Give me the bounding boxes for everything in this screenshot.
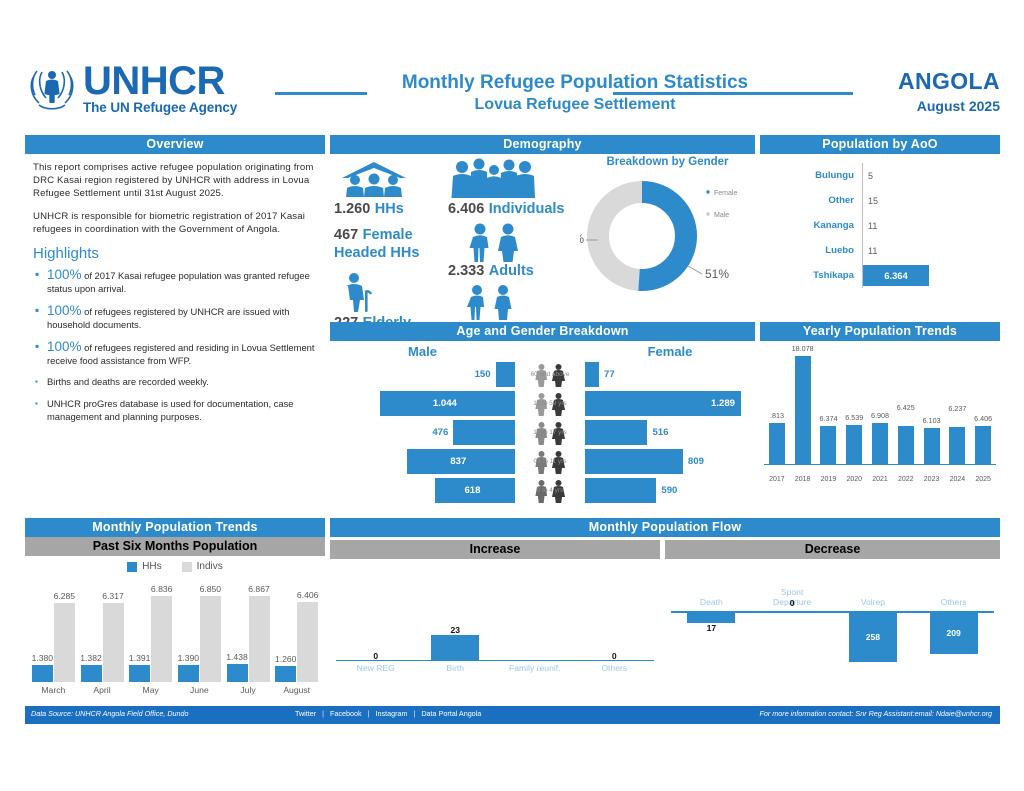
legend-label-male: Male	[714, 212, 729, 219]
monthly-indivs-bar: 6.317	[103, 603, 124, 682]
male-bar	[496, 362, 515, 387]
yearly-bar	[975, 426, 991, 464]
male-bar-cell: 476	[330, 419, 515, 446]
yearly-bar	[846, 425, 862, 464]
legend-hhs-label: HHs	[142, 561, 161, 572]
footer-link-facebook[interactable]: Facebook	[330, 709, 362, 718]
highlight-percent: 100%	[47, 303, 82, 318]
monthly-hhs-bar: 1.260	[275, 666, 296, 682]
age-gender-rows: 15060 and above771.04418 to 59 yrs1.2894…	[330, 361, 755, 504]
highlight-item: ▪Births and deaths are recorded weekly.	[33, 375, 317, 388]
stat-individuals: 6.406 Individuals	[448, 158, 578, 218]
aoo-row-value: 5	[863, 171, 873, 181]
monthly-indivs-bar: 6.836	[151, 596, 172, 682]
highlight-item: ▪UNHCR proGres database is used for docu…	[33, 397, 317, 424]
yearly-bar-column: 6.539	[841, 425, 867, 464]
increase-heading: Increase	[330, 540, 660, 559]
decrease-category: Death	[700, 597, 723, 607]
yearly-x-label: 2025	[970, 476, 996, 483]
legend-swatch-indivs	[182, 562, 192, 572]
yearly-bar	[769, 423, 785, 464]
aoo-row-name: Other	[760, 195, 862, 206]
decrease-column: 0	[752, 612, 833, 662]
decrease-category: Others	[941, 597, 967, 607]
female-value: 77	[599, 369, 615, 380]
decrease-value: 0	[790, 598, 795, 608]
highlight-text: 100% of 2017 Kasai refugee population wa…	[47, 268, 317, 296]
increase-bar	[431, 635, 479, 661]
page-footer: Data Source: UNHCR Angola Field Office, …	[25, 706, 1000, 724]
highlight-item: ▪100% of refugees registered by UNHCR ar…	[33, 304, 317, 332]
yearly-axis-line	[764, 464, 996, 465]
page-subtitle: Lovua Refugee Settlement	[365, 96, 785, 114]
aoo-row-value-cell: 6.364	[862, 263, 1000, 288]
decrease-value: 209	[946, 628, 960, 638]
aoo-row-name: Kananga	[760, 220, 862, 231]
stat-individuals-number: 6.406	[448, 201, 484, 217]
yearly-bar	[949, 427, 965, 464]
group-icon	[448, 158, 540, 200]
bullet-icon: ▪	[35, 397, 47, 424]
aoo-row-value: 15	[863, 196, 878, 206]
monthly-hhs-bar: 1.390	[178, 665, 199, 682]
monthly-legend: HHs Indivs	[29, 558, 321, 574]
monthly-x-label: March	[29, 685, 78, 695]
unhcr-logo: UNHCR The UN Refugee Agency	[25, 60, 257, 122]
yearly-bar	[795, 356, 811, 464]
demography-heading: Demography	[330, 135, 755, 154]
increase-label-cell: Family reunif.	[495, 663, 575, 673]
monthly-hhs-value: 1.390	[178, 653, 200, 663]
donut-male-pct: 49%	[580, 232, 584, 246]
female-bar	[585, 478, 656, 503]
infographic-page: UNHCR The UN Refugee Agency Monthly Refu…	[0, 0, 1024, 791]
age-gender-column-headers: Male Female	[330, 341, 755, 361]
age-group-label: 60 and above	[531, 371, 570, 378]
decrease-bar	[687, 612, 735, 623]
increase-category: Family reunif.	[509, 663, 561, 673]
highlight-text: UNHCR proGres database is used for docum…	[47, 397, 317, 424]
aoo-row-value: 11	[863, 221, 877, 231]
aoo-row: Tshikapa6.364	[760, 263, 1000, 288]
yearly-bar	[820, 426, 836, 464]
female-bar-cell: 1.289	[585, 390, 755, 417]
aoo-row-name: Luebo	[760, 245, 862, 256]
aoo-row-value-cell: 11	[862, 238, 1000, 263]
increase-label-cell: New REG	[336, 663, 416, 673]
female-value: 1.289	[711, 398, 735, 409]
decrease-label-cell: Death	[671, 573, 752, 607]
increase-value: 0	[612, 651, 617, 661]
aoo-row-value-cell: 11	[862, 213, 1000, 238]
yearly-bar-value: 6.539	[845, 413, 863, 422]
footer-link-twitter[interactable]: Twitter	[295, 709, 316, 718]
female-column-header: Female	[585, 344, 755, 359]
flow-heading-bar: Monthly Population Flow	[330, 518, 1000, 537]
age-gender-row: 1.04418 to 59 yrs1.289	[330, 390, 755, 417]
decrease-label-cell: Volrep	[833, 573, 914, 607]
monthly-bar-group: 1.3806.285	[29, 574, 78, 682]
male-bar-cell: 1.044	[330, 390, 515, 417]
legend-swatch-hhs	[127, 562, 137, 572]
monthly-indivs-value: 6.867	[248, 584, 270, 594]
monthly-hhs-value: 1.260	[275, 654, 297, 664]
aoo-row-value-cell: 15	[862, 188, 1000, 213]
overview-panel: Overview This report comprises active re…	[25, 135, 325, 513]
age-group-cell: 0 to 4 yrs	[515, 477, 585, 504]
bullet-icon: ▪	[35, 340, 47, 368]
footer-link-instagram[interactable]: Instagram	[376, 709, 408, 718]
yearly-x-label: 2023	[919, 476, 945, 483]
unhcr-wordmark: UNHCR The UN Refugee Agency	[83, 60, 237, 115]
increase-column: 0	[575, 621, 655, 661]
monthly-hhs-bar: 1.391	[129, 665, 150, 682]
elderly-icon	[334, 270, 388, 314]
stat-female-headed-number: 467	[334, 227, 358, 243]
page-header: UNHCR The UN Refugee Agency Monthly Refu…	[25, 58, 1000, 130]
age-gender-panel: Age and Gender Breakdown Male Female 150…	[330, 322, 755, 513]
footer-divider: |	[413, 709, 415, 718]
monthly-indivs-value: 6.285	[54, 591, 76, 601]
increase-label-cell: Others	[575, 663, 655, 673]
age-gender-row: 83705 to 11 yrs809	[330, 448, 755, 475]
male-bar: 618	[435, 478, 515, 503]
yearly-bar	[924, 428, 940, 464]
decrease-value: 258	[866, 632, 880, 642]
legend-dot-female	[706, 190, 709, 193]
stat-adults-label: Adults	[489, 263, 534, 279]
age-group-label: 0 to 4 yrs	[537, 487, 563, 494]
highlight-percent: 100%	[47, 339, 82, 354]
yearly-bar-column: 6.425	[893, 426, 919, 464]
decrease-category: Volrep	[861, 597, 885, 607]
decrease-panel: Decrease DeathSpontDepartureVolrepOthers…	[665, 540, 1000, 703]
female-value: 590	[656, 485, 677, 496]
highlight-item: ▪100% of refugees registered and residin…	[33, 340, 317, 368]
aoo-row-name: Tshikapa	[760, 270, 862, 281]
female-bar-cell: 590	[585, 477, 755, 504]
stat-adults: 2.333 Adults	[448, 222, 578, 280]
age-group-cell: 12 to 17 yrs	[515, 419, 585, 446]
highlight-text: 100% of refugees registered by UNHCR are…	[47, 304, 317, 332]
unhcr-emblem-icon	[25, 60, 79, 114]
monthly-x-axis: MarchAprilMayJuneJulyAugust	[29, 682, 321, 695]
age-gender-heading: Age and Gender Breakdown	[330, 322, 755, 341]
monthly-hhs-bar: 1.438	[227, 664, 248, 682]
yearly-bar-value: .813	[770, 411, 784, 420]
overview-paragraph-2: UNHCR is responsible for biometric regis…	[33, 210, 317, 236]
yearly-heading: Yearly Population Trends	[760, 322, 1000, 341]
increase-column: 23	[416, 621, 496, 661]
stat-households-label: HHs	[375, 201, 404, 217]
yearly-bar-column: 6.237	[944, 427, 970, 464]
increase-category: New REG	[357, 663, 395, 673]
donut-female-pct: 51%	[705, 267, 729, 281]
monthly-indivs-value: 6.850	[200, 584, 222, 594]
increase-column: 0	[336, 621, 416, 661]
legend-dot-male	[706, 212, 709, 215]
footer-social-links: Twitter|Facebook|Instagram|Data Portal A…	[295, 709, 481, 718]
monthly-indivs-bar: 6.850	[200, 596, 221, 682]
monthly-trends-panel: Monthly Population Trends Past Six Month…	[25, 518, 325, 703]
decrease-bar: 209	[930, 612, 978, 654]
footer-divider: |	[368, 709, 370, 718]
decrease-heading: Decrease	[665, 540, 1000, 559]
yearly-bar-column: .813	[764, 423, 790, 464]
monthly-indivs-value: 6.317	[102, 591, 124, 601]
footer-contact: For more information contact: Snr Reg As…	[760, 709, 992, 718]
footer-divider: |	[322, 709, 324, 718]
yearly-x-label: 2024	[944, 476, 970, 483]
increase-panel: Increase 0230 New REGBirthFamily reunif.…	[330, 540, 660, 703]
highlights-heading: Highlights	[33, 245, 317, 262]
age-group-label: 05 to 11 yrs	[534, 458, 567, 465]
yearly-x-label: 2019	[816, 476, 842, 483]
highlight-text: Births and deaths are recorded weekly.	[47, 375, 209, 388]
yearly-bar-value: 6.374	[819, 414, 837, 423]
overview-paragraph-1: This report comprises active refugee pop…	[33, 161, 317, 201]
female-value: 516	[647, 427, 668, 438]
bullet-icon: ▪	[35, 304, 47, 332]
aoo-heading: Population by AoO	[760, 135, 1000, 154]
donut-title: Breakdown by Gender	[580, 156, 755, 168]
monthly-heading: Monthly Population Trends	[25, 518, 325, 537]
decrease-value: 17	[707, 623, 717, 633]
female-bar	[585, 420, 647, 445]
yearly-bar-value: 6.237	[948, 404, 966, 413]
yearly-x-label: 2018	[790, 476, 816, 483]
monthly-indivs-bar: 6.285	[54, 603, 75, 682]
female-bar-cell: 809	[585, 448, 755, 475]
male-value: 837	[450, 456, 471, 467]
aoo-row: Kananga11	[760, 213, 1000, 238]
yearly-x-label: 2021	[867, 476, 893, 483]
male-bar-cell: 837	[330, 448, 515, 475]
monthly-x-label: August	[272, 685, 321, 695]
aoo-row-value-cell: 5	[862, 163, 1000, 188]
increase-chart: 0230 New REGBirthFamily reunif.Others	[330, 559, 660, 703]
children-icon	[460, 282, 526, 320]
demography-column-mid: 6.406 Individuals 2.333 Adults	[448, 158, 578, 338]
bullet-icon: ▪	[35, 268, 47, 296]
decrease-column: 258	[833, 612, 914, 662]
monthly-bar-group: 1.3916.836	[126, 574, 175, 682]
stat-female-headed: 467 Female Headed HHs	[334, 226, 444, 262]
monthly-hhs-value: 1.382	[80, 653, 102, 663]
male-value: 150	[475, 369, 496, 380]
aoo-row: Luebo11	[760, 238, 1000, 263]
legend-indivs-label: Indivs	[197, 561, 223, 572]
yearly-bar-column: 6.406	[970, 426, 996, 464]
decrease-chart: DeathSpontDepartureVolrepOthers 17025820…	[665, 559, 1000, 703]
male-bar: 837	[407, 449, 515, 474]
logo-tagline: The UN Refugee Agency	[83, 100, 237, 115]
aoo-row: Other15	[760, 188, 1000, 213]
stat-households-number: 1.260	[334, 201, 370, 217]
aoo-row: Bulungu5	[760, 163, 1000, 188]
overview-heading: Overview	[25, 135, 325, 154]
male-bar-cell: 150	[330, 361, 515, 388]
bullet-icon: ▪	[35, 375, 47, 388]
footer-link-data-portal-angola[interactable]: Data Portal Angola	[421, 709, 481, 718]
decrease-column: 209	[913, 612, 994, 662]
yearly-x-label: 2020	[841, 476, 867, 483]
yearly-x-axis: 201720182019202020212022202320242025	[764, 476, 996, 483]
yearly-bar-column: 18.078	[790, 356, 816, 464]
header-rule-left	[275, 92, 367, 95]
monthly-x-label: July	[224, 685, 273, 695]
yearly-chart: .81318.0786.3746.5396.9086.4256.1036.237…	[764, 345, 996, 483]
female-bar	[585, 362, 599, 387]
monthly-bar-group: 1.2606.406	[272, 574, 321, 682]
female-bar-cell: 516	[585, 419, 755, 446]
report-date: August 2025	[820, 98, 1000, 114]
highlight-item: ▪100% of 2017 Kasai refugee population w…	[33, 268, 317, 296]
monthly-x-label: April	[78, 685, 127, 695]
footer-data-source: Data Source: UNHCR Angola Field Office, …	[31, 709, 189, 718]
age-group-label: 18 to 59 yrs	[533, 400, 566, 407]
increase-category: Birth	[446, 663, 464, 673]
legend-indivs: Indivs	[182, 561, 223, 572]
decrease-column: 17	[671, 612, 752, 662]
female-bar	[585, 449, 683, 474]
aoo-list: Bulungu5Other15Kananga11Luebo11Tshikapa6…	[760, 154, 1000, 288]
demography-panel: Demography 1.260 HHs 467	[330, 135, 755, 317]
yearly-bar	[898, 426, 914, 464]
decrease-label-cell: Others	[913, 573, 994, 607]
decrease-bar: 258	[849, 612, 897, 662]
monthly-indivs-bar: 6.867	[249, 596, 270, 682]
monthly-hhs-value: 1.438	[226, 652, 248, 662]
country-name: ANGOLA	[820, 68, 1000, 95]
yearly-bar-value: 6.908	[871, 411, 889, 420]
yearly-trends-panel: Yearly Population Trends .81318.0786.374…	[760, 322, 1000, 513]
yearly-bar-value: 6.103	[923, 416, 941, 425]
male-bar-cell: 618	[330, 477, 515, 504]
yearly-bar-value: 6.406	[974, 414, 992, 423]
monthly-hhs-value: 1.391	[129, 653, 151, 663]
yearly-bar-column: 6.374	[816, 426, 842, 464]
age-group-cell: 18 to 59 yrs	[515, 390, 585, 417]
monthly-indivs-value: 6.836	[151, 584, 173, 594]
monthly-bar-group: 1.3826.317	[78, 574, 127, 682]
female-bar: 1.289	[585, 391, 741, 416]
increase-value: 0	[373, 651, 378, 661]
monthly-subheading: Past Six Months Population	[25, 537, 325, 556]
female-bar-cell: 77	[585, 361, 755, 388]
monthly-indivs-bar: 6.406	[297, 602, 318, 682]
age-group-label: 12 to 17 yrs	[533, 429, 566, 436]
male-value: 476	[432, 427, 453, 438]
stat-adults-number: 2.333	[448, 263, 484, 279]
monthly-x-label: May	[126, 685, 175, 695]
highlights-list: ▪100% of 2017 Kasai refugee population w…	[33, 268, 317, 424]
monthly-x-label: June	[175, 685, 224, 695]
aoo-row-bar: 6.364	[863, 265, 929, 286]
increase-label-cell: Birth	[416, 663, 496, 673]
yearly-bar-column: 6.103	[919, 428, 945, 464]
yearly-x-label: 2017	[764, 476, 790, 483]
aoo-row-value: 11	[863, 246, 877, 256]
age-group-cell: 60 and above	[515, 361, 585, 388]
male-bar	[453, 420, 515, 445]
highlight-text: 100% of refugees registered and residing…	[47, 340, 317, 368]
age-gender-row: 47612 to 17 yrs516	[330, 419, 755, 446]
monthly-hhs-bar: 1.382	[81, 665, 102, 682]
logo-name: UNHCR	[83, 60, 237, 102]
age-gender-row: 15060 and above77	[330, 361, 755, 388]
male-value: 1.044	[433, 398, 462, 409]
gender-donut-chart: Breakdown by Gender 51% 49% Female Male	[580, 156, 755, 316]
donut-leader-female	[688, 266, 702, 274]
monthly-hhs-value: 1.380	[32, 653, 54, 663]
population-by-aoo-panel: Population by AoO Bulungu5Other15Kananga…	[760, 135, 1000, 317]
adults-icon	[462, 222, 532, 262]
stat-households: 1.260 HHs	[334, 158, 444, 218]
age-group-cell: 05 to 11 yrs	[515, 448, 585, 475]
monthly-bar-group: 1.4386.867	[224, 574, 273, 682]
demography-column-left: 1.260 HHs 467 Female Headed HHs	[334, 158, 444, 332]
yearly-bar-value: 6.425	[897, 403, 915, 412]
age-gender-row: 6180 to 4 yrs590	[330, 477, 755, 504]
yearly-bar	[872, 423, 888, 464]
yearly-bar-value: 18.078	[792, 344, 814, 353]
stat-individuals-label: Individuals	[489, 201, 565, 217]
legend-hhs: HHs	[127, 561, 161, 572]
male-value: 618	[464, 485, 485, 496]
monthly-chart: 1.3806.2851.3826.3171.3916.8361.3906.850…	[29, 574, 321, 682]
monthly-indivs-value: 6.406	[297, 590, 319, 600]
male-bar: 1.044	[380, 391, 515, 416]
page-title: Monthly Refugee Population Statistics	[365, 72, 785, 94]
aoo-row-name: Bulungu	[760, 170, 862, 181]
increase-category: Others	[601, 663, 627, 673]
monthly-bar-group: 1.3906.850	[175, 574, 224, 682]
female-value: 809	[683, 456, 704, 467]
household-icon	[334, 158, 422, 200]
increase-value: 23	[450, 625, 460, 635]
increase-column	[495, 621, 575, 661]
yearly-bar-column: 6.908	[867, 423, 893, 464]
legend-label-female: Female	[714, 190, 737, 197]
flow-heading: Monthly Population Flow	[330, 518, 1000, 537]
male-column-header: Male	[330, 344, 515, 359]
monthly-hhs-bar: 1.380	[32, 665, 53, 682]
yearly-x-label: 2022	[893, 476, 919, 483]
highlight-percent: 100%	[47, 267, 82, 282]
